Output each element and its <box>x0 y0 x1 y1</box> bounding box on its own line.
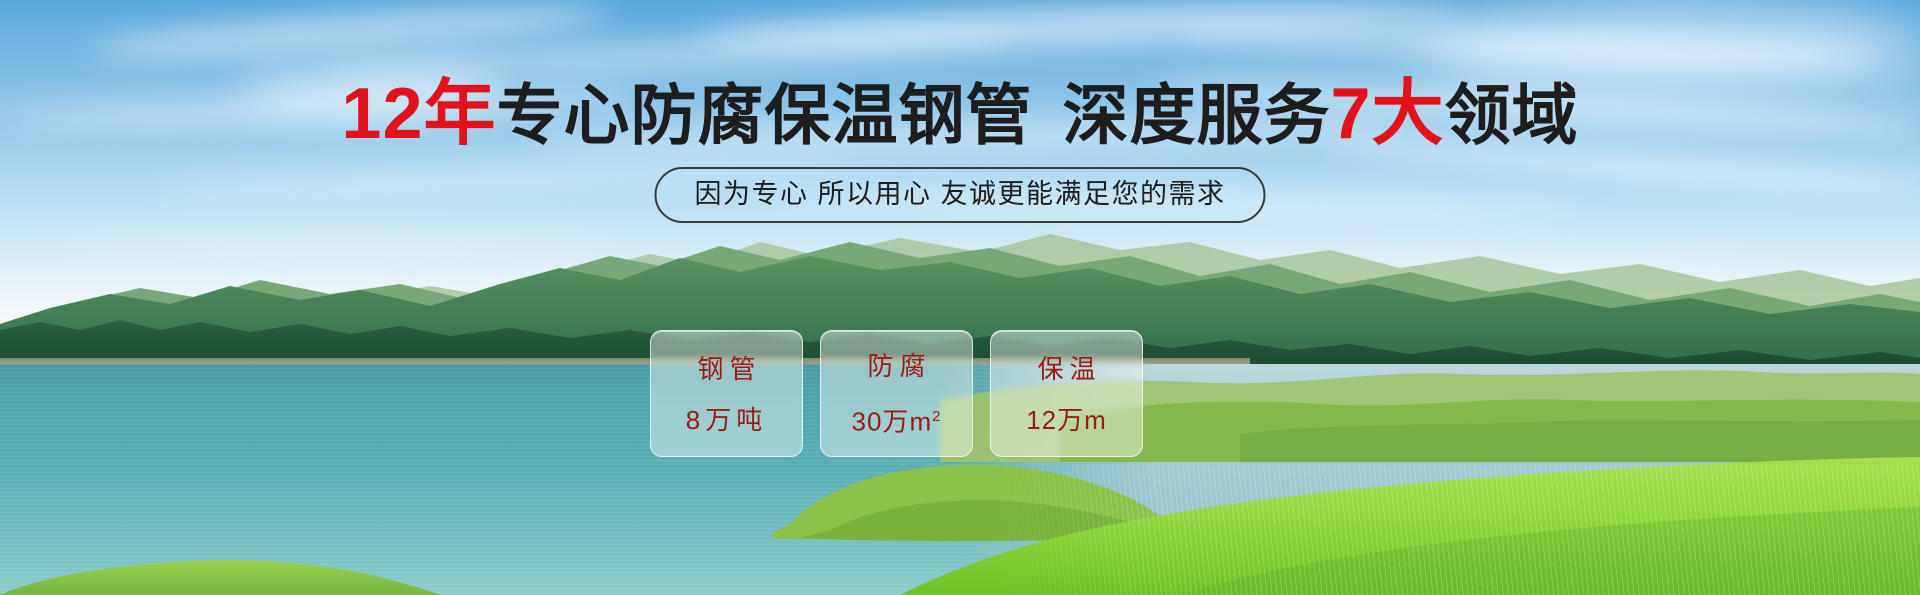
stat-card-anticorrosion[interactable]: 防腐 30万m2 <box>820 330 973 457</box>
headline-segment-main: 专心防腐保温钢管 <box>497 78 1033 152</box>
stat-card-label: 防腐 <box>861 351 931 381</box>
stat-value-text: 8万吨 <box>686 405 767 435</box>
stat-card-value: 12万m <box>1026 406 1107 434</box>
hero-banner: 12年专心防腐保温钢管深度服务7大领域 因为专心 所以用心 友诚更能满足您的需求… <box>0 0 1920 595</box>
stat-card-steel-pipe[interactable]: 钢管 8万吨 <box>650 330 803 457</box>
stat-card-value: 30万m2 <box>852 403 942 436</box>
stat-card-insulation[interactable]: 保温 12万m <box>990 330 1143 457</box>
stat-card-label: 钢管 <box>691 354 761 384</box>
stat-card-label: 保温 <box>1031 354 1101 384</box>
banner-headline: 12年专心防腐保温钢管深度服务7大领域 <box>0 80 1920 149</box>
stat-value-text: 12万m <box>1026 405 1107 435</box>
headline-segment-years: 12年 <box>341 74 496 154</box>
stat-value-superscript: 2 <box>932 408 941 425</box>
headline-segment-fields: 领域 <box>1445 78 1579 152</box>
banner-subtitle-pill: 因为专心 所以用心 友诚更能满足您的需求 <box>654 167 1265 223</box>
headline-segment-service: 深度服务 <box>1063 78 1331 152</box>
stat-value-text: 30万m <box>852 407 933 437</box>
stat-card-value: 8万吨 <box>686 406 767 434</box>
stats-card-group: 钢管 8万吨 防腐 30万m2 保温 12万m <box>650 330 1143 457</box>
headline-segment-seven: 7大 <box>1331 74 1445 154</box>
foreground-grass <box>0 445 1920 595</box>
